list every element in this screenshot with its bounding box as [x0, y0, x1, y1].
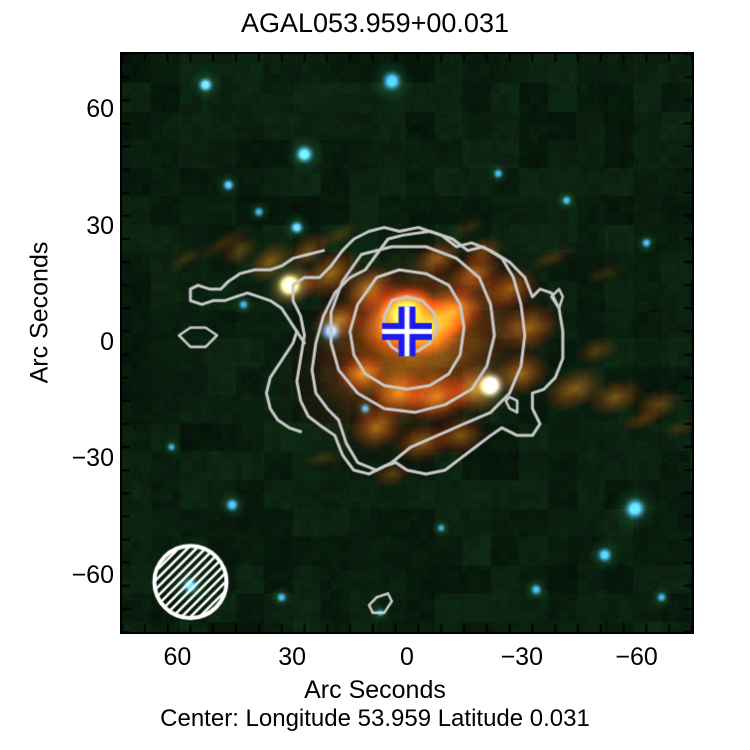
y-axis-label: Arc Seconds — [26, 173, 55, 453]
x-axis-label: Arc Seconds — [0, 676, 750, 705]
x-axis-tick-label: 60 — [132, 645, 222, 670]
x-axis-tick-label: −30 — [477, 645, 567, 670]
astronomy-figure: AGAL053.959+00.031 60300−30−60 60300−30−… — [0, 0, 750, 750]
x-axis-tick-label: 0 — [362, 645, 452, 670]
sky-image-plot — [120, 52, 694, 634]
y-axis-tick-label: −60 — [28, 563, 114, 588]
y-axis-tick-label: 60 — [28, 97, 114, 122]
x-axis-tick-label: 30 — [247, 645, 337, 670]
figure-caption: Center: Longitude 53.959 Latitude 0.031 — [0, 705, 750, 733]
sky-image-canvas — [122, 54, 692, 632]
x-axis-tick-labels: 60300−30−60 — [0, 645, 750, 679]
x-axis-tick-label: −60 — [592, 645, 682, 670]
